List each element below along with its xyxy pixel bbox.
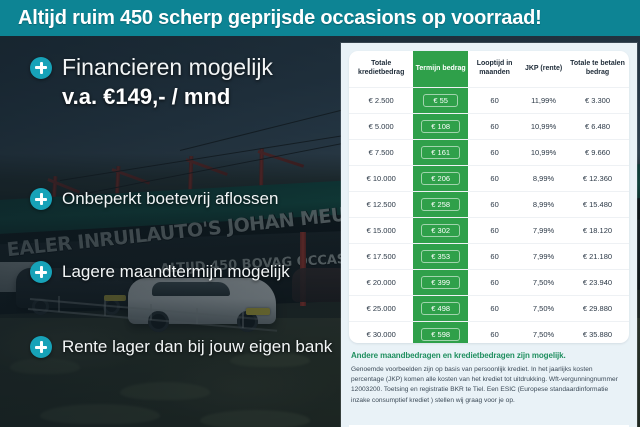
- benefit-label: Lagere maandtermijn mogelijk: [62, 262, 290, 282]
- loan-table-cell: € 161: [413, 139, 468, 165]
- headline-banner: Altijd ruim 450 scherp geprijsde occasio…: [0, 0, 640, 36]
- loan-table-cell: € 15.480: [566, 191, 629, 217]
- loan-table-cell: 7,99%: [521, 243, 566, 269]
- table-row: € 15.000€ 302607,99%€ 18.120: [349, 217, 629, 243]
- loan-table-cell: 8,99%: [521, 165, 566, 191]
- loan-table-cell: 60: [468, 165, 521, 191]
- loan-table-column-header: Totale te betalen bedrag: [566, 51, 629, 87]
- loan-table-cell: 7,50%: [521, 321, 566, 343]
- loan-table-cell: € 7.500: [349, 139, 413, 165]
- loan-table-cell: 10,99%: [521, 139, 566, 165]
- loan-table-cell: 60: [468, 217, 521, 243]
- loan-table-cell: 60: [468, 113, 521, 139]
- table-row: € 5.000€ 1086010,99%€ 6.480: [349, 113, 629, 139]
- benefit-item-aflossen: Onbeperkt boetevrij aflossen: [30, 188, 278, 210]
- loan-table-cell: 11,99%: [521, 87, 566, 113]
- benefit-item-rente: Rente lager dan bij jouw eigen bank: [30, 336, 332, 358]
- loan-table-cell: € 258: [413, 191, 468, 217]
- disclaimer-notes: Andere maandbedragen en kredietbedragen …: [351, 351, 627, 406]
- loan-table-head: Totale kredietbedragTermijn bedragLoopti…: [349, 51, 629, 87]
- loan-table-cell: € 25.000: [349, 295, 413, 321]
- loan-table-cell: 60: [468, 191, 521, 217]
- loan-table-cell: € 21.180: [566, 243, 629, 269]
- loan-table-cell: € 29.880: [566, 295, 629, 321]
- benefit-label: Rente lager dan bij jouw eigen bank: [62, 337, 332, 357]
- loan-table-cell: € 9.660: [566, 139, 629, 165]
- disclaimer-heading: Andere maandbedragen en kredietbedragen …: [351, 351, 627, 360]
- loan-table-cell: 7,50%: [521, 295, 566, 321]
- table-row: € 2.500€ 556011,99%€ 3.300: [349, 87, 629, 113]
- loan-table-column-header: Totale kredietbedrag: [349, 51, 413, 87]
- table-row: € 17.500€ 353607,99%€ 21.180: [349, 243, 629, 269]
- loan-table-cell: 60: [468, 243, 521, 269]
- loan-table-cell: € 18.120: [566, 217, 629, 243]
- benefit-sub-label-financieren: v.a. €149,- / mnd: [62, 84, 230, 110]
- loan-table-column-header: Termijn bedrag: [413, 51, 468, 87]
- table-row: € 30.000€ 598607,50%€ 35.880: [349, 321, 629, 343]
- loan-table-cell: € 206: [413, 165, 468, 191]
- loan-table-cell: 8,99%: [521, 191, 566, 217]
- loan-table-cell: 60: [468, 139, 521, 165]
- loan-table-column-header: Looptijd in maanden: [468, 51, 521, 87]
- table-row: € 7.500€ 1616010,99%€ 9.660: [349, 139, 629, 165]
- loan-table-cell: 7,50%: [521, 269, 566, 295]
- loan-table-body: € 2.500€ 556011,99%€ 3.300€ 5.000€ 10860…: [349, 87, 629, 343]
- loan-table-cell: € 35.880: [566, 321, 629, 343]
- benefit-label: Onbeperkt boetevrij aflossen: [62, 189, 278, 209]
- loan-table-cell: € 12.360: [566, 165, 629, 191]
- loan-table-cell: € 6.480: [566, 113, 629, 139]
- loan-table-cell: 60: [468, 321, 521, 343]
- loan-table-cell: 60: [468, 87, 521, 113]
- loan-table-cell: € 15.000: [349, 217, 413, 243]
- loan-table-cell: 60: [468, 269, 521, 295]
- loan-table-cell: € 23.940: [566, 269, 629, 295]
- table-row: € 25.000€ 498607,50%€ 29.880: [349, 295, 629, 321]
- loan-table-cell: € 108: [413, 113, 468, 139]
- loan-table-column-header: JKP (rente): [521, 51, 566, 87]
- loan-table-cell: € 3.300: [566, 87, 629, 113]
- loan-table-cell: € 55: [413, 87, 468, 113]
- loan-table-cell: € 5.000: [349, 113, 413, 139]
- loan-table-cell: € 10.000: [349, 165, 413, 191]
- benefit-label: Financieren mogelijk: [62, 54, 273, 81]
- benefit-item-financieren: Financieren mogelijk: [30, 54, 273, 81]
- benefit-item-maandtermijn: Lagere maandtermijn mogelijk: [30, 261, 290, 283]
- loan-info-panel: Totale kredietbedragTermijn bedragLoopti…: [341, 43, 637, 427]
- table-row: € 12.500€ 258608,99%€ 15.480: [349, 191, 629, 217]
- loan-table-card: Totale kredietbedragTermijn bedragLoopti…: [349, 51, 629, 343]
- plus-circle-icon: [30, 57, 52, 79]
- table-row: € 10.000€ 206608,99%€ 12.360: [349, 165, 629, 191]
- loan-table-cell: 60: [468, 295, 521, 321]
- plus-circle-icon: [30, 261, 52, 283]
- loan-table-cell: € 20.000: [349, 269, 413, 295]
- loan-table-cell: € 598: [413, 321, 468, 343]
- loan-table-cell: € 498: [413, 295, 468, 321]
- loan-table-cell: € 399: [413, 269, 468, 295]
- headline-text: Altijd ruim 450 scherp geprijsde occasio…: [0, 7, 542, 30]
- advertisement-banner: EALER INRUILAUTO'S JOHAN MEURE ALTIJD 45…: [0, 0, 640, 427]
- loan-table-cell: € 2.500: [349, 87, 413, 113]
- loan-table-header-row: Totale kredietbedragTermijn bedragLoopti…: [349, 51, 629, 87]
- loan-table-cell: 10,99%: [521, 113, 566, 139]
- loan-table: Totale kredietbedragTermijn bedragLoopti…: [349, 51, 629, 343]
- loan-table-cell: € 302: [413, 217, 468, 243]
- plus-circle-icon: [30, 188, 52, 210]
- table-row: € 20.000€ 399607,50%€ 23.940: [349, 269, 629, 295]
- loan-table-cell: 7,99%: [521, 217, 566, 243]
- benefits-list: Financieren mogelijk v.a. €149,- / mnd O…: [0, 36, 340, 427]
- loan-table-cell: € 12.500: [349, 191, 413, 217]
- disclaimer-body: Genoemde voorbeelden zijn op basis van p…: [351, 365, 627, 406]
- plus-circle-icon: [30, 336, 52, 358]
- loan-table-cell: € 30.000: [349, 321, 413, 343]
- loan-table-cell: € 353: [413, 243, 468, 269]
- loan-table-cell: € 17.500: [349, 243, 413, 269]
